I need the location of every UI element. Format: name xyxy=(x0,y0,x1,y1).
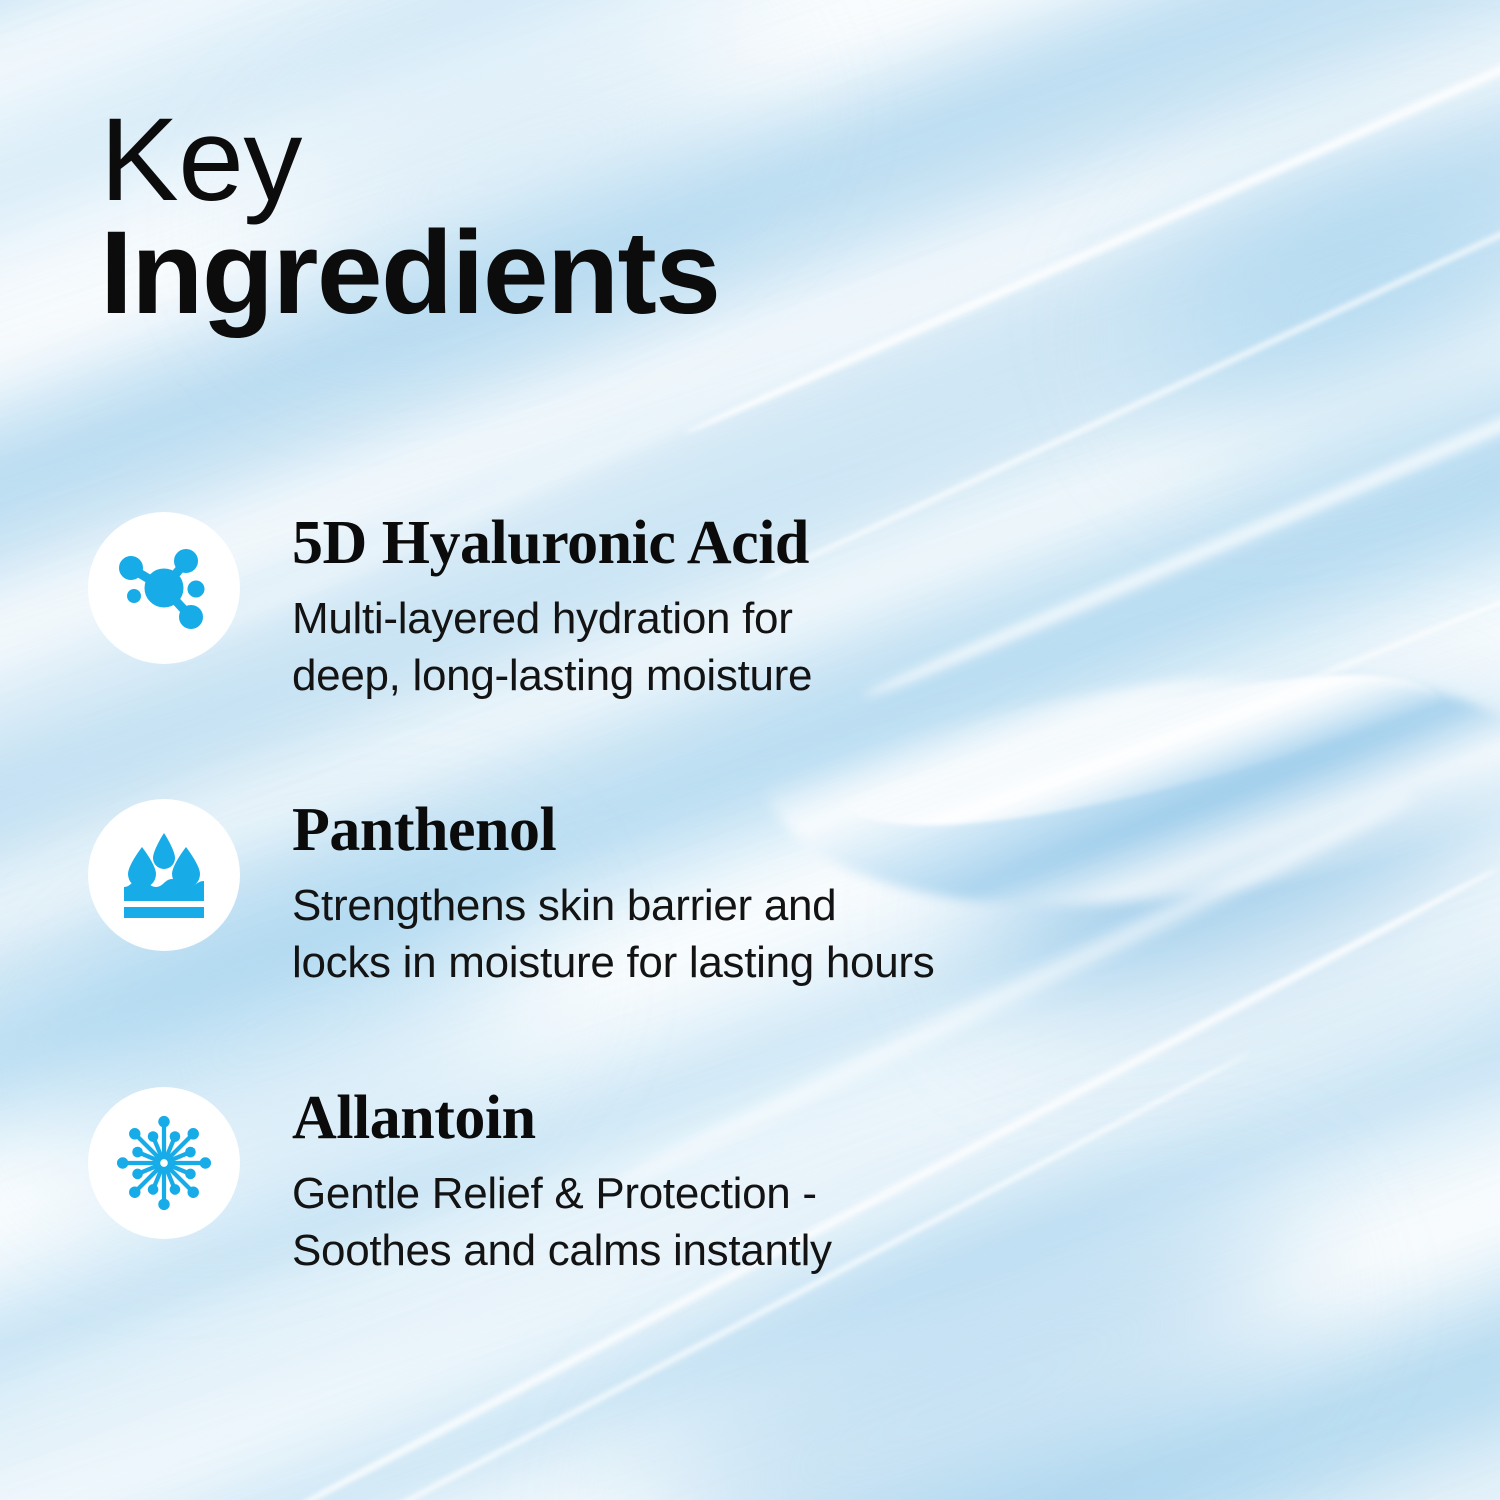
ingredient-description-line-2: Soothes and calms instantly xyxy=(292,1222,832,1279)
ingredient-description: Strengthens skin barrier and locks in mo… xyxy=(292,877,934,991)
ingredient-icon-badge xyxy=(88,799,240,951)
ingredient-item: 5D Hyaluronic Acid Multi-layered hydrati… xyxy=(88,508,1268,704)
ingredient-description-line-2: locks in moisture for lasting hours xyxy=(292,934,934,991)
ingredient-icon-badge xyxy=(88,512,240,664)
starburst-snowflake-icon xyxy=(111,1110,217,1216)
molecule-icon xyxy=(112,536,216,640)
ingredient-description-line-1: Gentle Relief & Protection - xyxy=(292,1165,832,1222)
ingredient-text-block: Panthenol Strengthens skin barrier and l… xyxy=(292,795,934,991)
page-title: Key Ingredients xyxy=(100,104,719,331)
ingredient-text-block: 5D Hyaluronic Acid Multi-layered hydrati… xyxy=(292,508,812,704)
ingredient-description-line-1: Multi-layered hydration for xyxy=(292,590,812,647)
page-title-line-1: Key xyxy=(100,104,719,217)
page-title-line-2: Ingredients xyxy=(100,217,719,330)
ingredient-text-block: Allantoin Gentle Relief & Protection - S… xyxy=(292,1083,832,1279)
ingredient-description: Gentle Relief & Protection - Soothes and… xyxy=(292,1165,832,1279)
ingredient-item: Panthenol Strengthens skin barrier and l… xyxy=(88,795,1268,991)
ingredient-item: Allantoin Gentle Relief & Protection - S… xyxy=(88,1083,1268,1279)
water-droplets-barrier-icon xyxy=(114,825,214,925)
ingredient-description: Multi-layered hydration for deep, long-l… xyxy=(292,590,812,704)
ingredient-description-line-1: Strengthens skin barrier and xyxy=(292,877,934,934)
ingredient-name: 5D Hyaluronic Acid xyxy=(292,512,812,574)
ingredient-name: Allantoin xyxy=(292,1087,832,1149)
ingredient-description-line-2: deep, long-lasting moisture xyxy=(292,647,812,704)
key-ingredients-poster: Key Ingredients xyxy=(0,0,1500,1500)
ingredient-icon-badge xyxy=(88,1087,240,1239)
ingredient-name: Panthenol xyxy=(292,799,934,861)
